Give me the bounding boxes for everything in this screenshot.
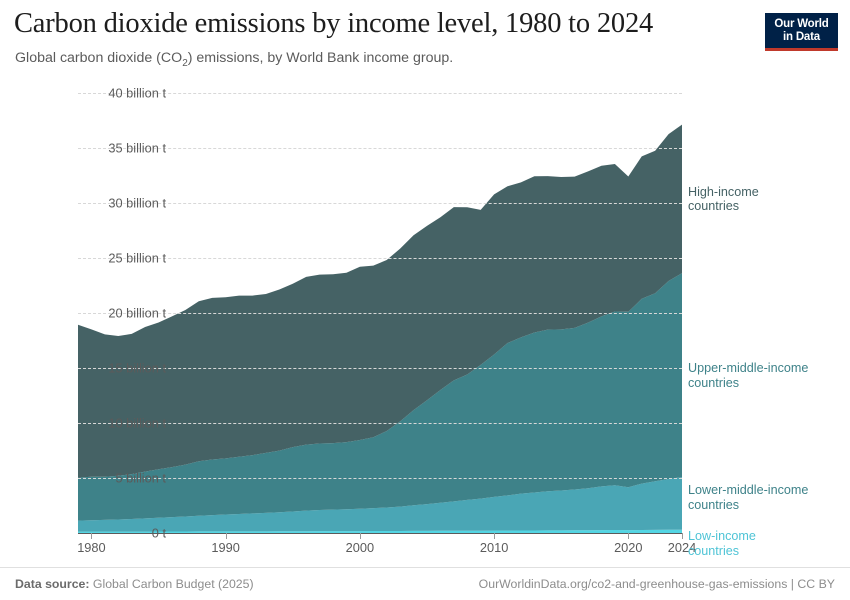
gridline-5 — [78, 478, 682, 479]
y-axis-tick-label-20: 20 billion t — [26, 306, 166, 321]
x-axis-tick-2010 — [494, 533, 495, 539]
logo-line-2: in Data — [783, 31, 820, 43]
series-label-lower-middle-income: Lower-middle-income countries — [688, 483, 808, 512]
subtitle-text-pre: Global carbon dioxide (CO — [15, 50, 182, 66]
license-link[interactable]: OurWorldinData.org/co2-and-greenhouse-ga… — [479, 577, 835, 591]
y-axis-tick-label-25: 25 billion t — [26, 251, 166, 266]
gridline-35 — [78, 148, 682, 149]
x-axis-tick-label-2010: 2010 — [480, 540, 508, 555]
chart-page: Carbon dioxide emissions by income level… — [0, 0, 850, 600]
subtitle-text-post: ) emissions, by World Bank income group. — [188, 50, 453, 66]
data-source-value: Global Carbon Budget (2025) — [93, 577, 254, 591]
gridline-10 — [78, 423, 682, 424]
plot-area[interactable] — [78, 93, 682, 533]
series-label-upper-middle-income-line2: countries — [688, 376, 808, 391]
gridline-25 — [78, 258, 682, 259]
y-axis-tick-label-40: 40 billion t — [26, 86, 166, 101]
our-world-in-data-logo[interactable]: Our World in Data — [765, 13, 838, 51]
chart-footer: Data source: Global Carbon Budget (2025)… — [0, 567, 850, 600]
series-label-low-income: Low-income countries — [688, 529, 756, 558]
x-axis-tick-label-1990: 1990 — [211, 540, 239, 555]
y-axis-tick-label-30: 30 billion t — [26, 196, 166, 211]
series-label-high-income-line1: High-income — [688, 185, 759, 200]
series-label-high-income: High-income countries — [688, 185, 759, 214]
x-axis-tick-1980 — [91, 533, 92, 539]
logo-line-1: Our World — [774, 18, 828, 30]
series-label-lower-middle-income-line1: Lower-middle-income — [688, 483, 808, 498]
data-source: Data source: Global Carbon Budget (2025) — [15, 577, 254, 591]
y-axis-tick-label-15: 15 billion t — [26, 361, 166, 376]
x-axis-tick-2000 — [360, 533, 361, 539]
gridline-40 — [78, 93, 682, 94]
series-label-low-income-line2: countries — [688, 544, 756, 559]
x-axis-tick-label-2020: 2020 — [614, 540, 642, 555]
series-label-lower-middle-income-line2: countries — [688, 498, 808, 513]
page-subtitle: Global carbon dioxide (CO2) emissions, b… — [15, 50, 715, 69]
y-axis-tick-label-35: 35 billion t — [26, 141, 166, 156]
gridline-30 — [78, 203, 682, 204]
gridline-15 — [78, 368, 682, 369]
page-title: Carbon dioxide emissions by income level… — [14, 8, 754, 40]
x-axis-tick-label-1980: 1980 — [77, 540, 105, 555]
chart-container: 0 t5 billion t10 billion t15 billion t20… — [0, 78, 850, 556]
x-axis-tick-label-2000: 2000 — [346, 540, 374, 555]
gridline-20 — [78, 313, 682, 314]
series-label-upper-middle-income-line1: Upper-middle-income — [688, 361, 808, 376]
x-axis-tick-2024 — [682, 533, 683, 539]
series-label-low-income-line1: Low-income — [688, 529, 756, 544]
x-axis-tick-2020 — [628, 533, 629, 539]
data-source-label: Data source: — [15, 577, 90, 591]
y-axis-tick-label-5: 5 billion t — [26, 471, 166, 486]
y-axis-tick-label-10: 10 billion t — [26, 416, 166, 431]
x-axis: 198019902000201020202024 — [78, 533, 682, 559]
series-label-high-income-line2: countries — [688, 199, 759, 214]
series-label-upper-middle-income: Upper-middle-income countries — [688, 361, 808, 390]
x-axis-tick-1990 — [226, 533, 227, 539]
